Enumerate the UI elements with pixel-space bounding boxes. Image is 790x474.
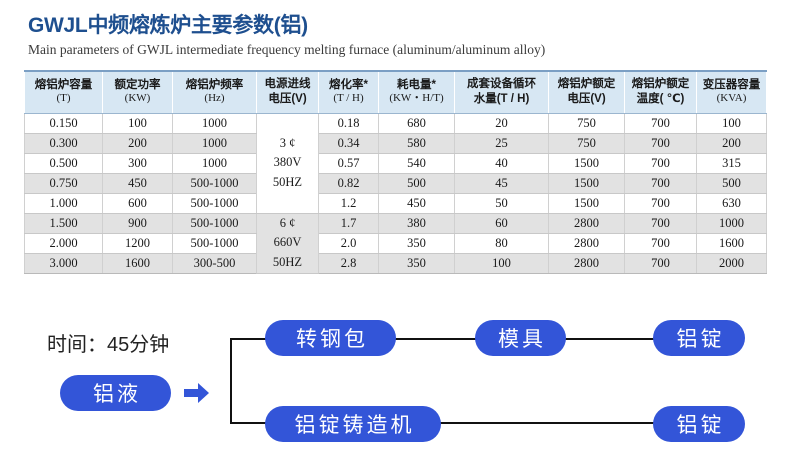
column-header-melt-rate-unit: (T / H) bbox=[320, 92, 377, 106]
supply-voltage-line: 6 ¢ bbox=[257, 214, 318, 233]
cell-melt-rate: 0.34 bbox=[319, 133, 379, 153]
cell-water: 60 bbox=[455, 213, 549, 233]
cell-power: 200 bbox=[103, 133, 173, 153]
connector-mould-to-ingot bbox=[562, 338, 658, 340]
cell-frequency: 1000 bbox=[173, 113, 257, 133]
cell-water: 100 bbox=[455, 253, 549, 273]
supply-voltage-line: 50HZ bbox=[257, 253, 318, 272]
cell-supply-voltage: 3 ¢380V50HZ bbox=[257, 113, 319, 213]
cell-temperature: 700 bbox=[625, 133, 697, 153]
column-header-capacity-label: 熔铝炉容量 bbox=[26, 78, 101, 92]
cell-capacity: 1.000 bbox=[25, 193, 103, 213]
cell-capacity: 0.750 bbox=[25, 173, 103, 193]
cell-temperature: 700 bbox=[625, 253, 697, 273]
table-row: 3.0001600300-5002.835010028007002000 bbox=[25, 253, 767, 273]
cell-transformer: 500 bbox=[697, 173, 767, 193]
column-header-supply-voltage-label: 电源进线 bbox=[258, 77, 317, 91]
supply-voltage-line: 50HZ bbox=[257, 173, 318, 192]
supply-voltage-line: 660V bbox=[257, 233, 318, 252]
cell-melt-rate: 1.7 bbox=[319, 213, 379, 233]
cell-power: 100 bbox=[103, 113, 173, 133]
column-header-melt-rate-label: 熔化率* bbox=[320, 78, 377, 92]
cell-frequency: 1000 bbox=[173, 153, 257, 173]
cell-furnace-voltage: 750 bbox=[549, 113, 625, 133]
cell-transformer: 315 bbox=[697, 153, 767, 173]
table-row: 0.15010010003 ¢380V50HZ0.186802075070010… bbox=[25, 113, 767, 133]
flow-node-molten-aluminum[interactable]: 铝液 bbox=[60, 375, 171, 411]
cell-power: 900 bbox=[103, 213, 173, 233]
supply-voltage-line: 3 ¢ bbox=[257, 134, 318, 153]
cell-transformer: 1600 bbox=[697, 233, 767, 253]
column-header-energy-label: 耗电量* bbox=[380, 78, 453, 92]
cell-capacity: 0.150 bbox=[25, 113, 103, 133]
cell-melt-rate: 2.0 bbox=[319, 233, 379, 253]
cell-furnace-voltage: 2800 bbox=[549, 233, 625, 253]
table-row: 0.50030010000.57540401500700315 bbox=[25, 153, 767, 173]
cell-capacity: 1.500 bbox=[25, 213, 103, 233]
cell-energy: 500 bbox=[379, 173, 455, 193]
column-header-water-unit: 水量(T / H) bbox=[456, 92, 547, 106]
column-header-supply-voltage-unit: 电压(V) bbox=[258, 92, 317, 106]
cell-capacity: 3.000 bbox=[25, 253, 103, 273]
column-header-energy: 耗电量* (KW・H/T) bbox=[379, 71, 455, 113]
table-body: 0.15010010003 ¢380V50HZ0.186802075070010… bbox=[25, 113, 767, 273]
cell-furnace-voltage: 1500 bbox=[549, 193, 625, 213]
column-header-supply-voltage: 电源进线 电压(V) bbox=[257, 71, 319, 113]
cell-transformer: 200 bbox=[697, 133, 767, 153]
cell-capacity: 0.500 bbox=[25, 153, 103, 173]
cell-transformer: 2000 bbox=[697, 253, 767, 273]
cell-temperature: 700 bbox=[625, 173, 697, 193]
column-header-temperature: 熔铝炉额定 温度( ℃) bbox=[625, 71, 697, 113]
column-header-transformer-label: 变压器容量 bbox=[698, 78, 765, 92]
cell-temperature: 700 bbox=[625, 113, 697, 133]
cell-power: 300 bbox=[103, 153, 173, 173]
column-header-frequency-label: 熔铝炉频率 bbox=[174, 78, 255, 92]
cell-transformer: 100 bbox=[697, 113, 767, 133]
column-header-water: 成套设备循环 水量(T / H) bbox=[455, 71, 549, 113]
table-row: 2.0001200500-10002.03508028007001600 bbox=[25, 233, 767, 253]
column-header-energy-unit: (KW・H/T) bbox=[380, 92, 453, 106]
column-header-frequency-unit: (Hz) bbox=[174, 92, 255, 106]
cell-water: 45 bbox=[455, 173, 549, 193]
cell-power: 600 bbox=[103, 193, 173, 213]
time-label: 时间：45分钟 bbox=[47, 328, 169, 357]
cell-energy: 380 bbox=[379, 213, 455, 233]
column-header-furnace-voltage-unit: 电压(V) bbox=[550, 92, 623, 106]
column-header-furnace-voltage: 熔铝炉额定 电压(V) bbox=[549, 71, 625, 113]
table-row: 1.000600500-10001.2450501500700630 bbox=[25, 193, 767, 213]
cell-energy: 350 bbox=[379, 233, 455, 253]
cell-temperature: 700 bbox=[625, 233, 697, 253]
column-header-frequency: 熔铝炉频率 (Hz) bbox=[173, 71, 257, 113]
cell-melt-rate: 0.82 bbox=[319, 173, 379, 193]
cell-furnace-voltage: 2800 bbox=[549, 253, 625, 273]
flow-node-ingot-bottom[interactable]: 铝锭 bbox=[653, 406, 745, 442]
flow-node-ingot-top[interactable]: 铝锭 bbox=[653, 320, 745, 356]
cell-supply-voltage: 6 ¢660V50HZ bbox=[257, 213, 319, 273]
page-title: GWJL中频熔炼炉主要参数(铝) bbox=[28, 14, 768, 37]
cell-energy: 450 bbox=[379, 193, 455, 213]
connector-caster-to-ingot bbox=[436, 422, 658, 424]
column-header-transformer-unit: (KVA) bbox=[698, 92, 765, 106]
column-header-transformer: 变压器容量 (KVA) bbox=[697, 71, 767, 113]
cell-power: 1600 bbox=[103, 253, 173, 273]
column-header-power-label: 额定功率 bbox=[104, 78, 171, 92]
process-flow-diagram: 时间：45分钟 铝液 转钢包 模具 铝锭 铝锭铸造机 铝锭 bbox=[0, 296, 790, 474]
column-header-temperature-label: 熔铝炉额定 bbox=[626, 77, 695, 91]
cell-temperature: 700 bbox=[625, 213, 697, 233]
connector-branch-spine bbox=[230, 338, 232, 424]
connector-ladle-to-mould bbox=[392, 338, 480, 340]
cell-melt-rate: 2.8 bbox=[319, 253, 379, 273]
cell-frequency: 500-1000 bbox=[173, 233, 257, 253]
supply-voltage-line: 380V bbox=[257, 153, 318, 172]
flow-node-ladle[interactable]: 转钢包 bbox=[265, 320, 396, 356]
column-header-furnace-voltage-label: 熔铝炉额定 bbox=[550, 77, 623, 91]
cell-transformer: 630 bbox=[697, 193, 767, 213]
column-header-melt-rate: 熔化率* (T / H) bbox=[319, 71, 379, 113]
table-row: 0.750450500-10000.82500451500700500 bbox=[25, 173, 767, 193]
cell-melt-rate: 0.18 bbox=[319, 113, 379, 133]
cell-temperature: 700 bbox=[625, 193, 697, 213]
column-header-power-unit: (KW) bbox=[104, 92, 171, 106]
cell-energy: 580 bbox=[379, 133, 455, 153]
cell-water: 20 bbox=[455, 113, 549, 133]
cell-water: 40 bbox=[455, 153, 549, 173]
right-arrow-icon bbox=[184, 382, 210, 404]
cell-melt-rate: 0.57 bbox=[319, 153, 379, 173]
cell-power: 450 bbox=[103, 173, 173, 193]
specification-table: 熔铝炉容量 (T) 额定功率 (KW) 熔铝炉频率 (Hz) 电源进线 电压(V… bbox=[24, 70, 767, 274]
cell-energy: 350 bbox=[379, 253, 455, 273]
page-header: GWJL中频熔炼炉主要参数(铝) Main parameters of GWJL… bbox=[28, 14, 768, 58]
cell-frequency: 300-500 bbox=[173, 253, 257, 273]
column-header-power: 额定功率 (KW) bbox=[103, 71, 173, 113]
cell-frequency: 500-1000 bbox=[173, 173, 257, 193]
flow-node-ingot-caster[interactable]: 铝锭铸造机 bbox=[265, 406, 441, 442]
cell-furnace-voltage: 2800 bbox=[549, 213, 625, 233]
cell-energy: 540 bbox=[379, 153, 455, 173]
cell-frequency: 500-1000 bbox=[173, 193, 257, 213]
cell-water: 50 bbox=[455, 193, 549, 213]
column-header-water-label: 成套设备循环 bbox=[456, 77, 547, 91]
cell-capacity: 2.000 bbox=[25, 233, 103, 253]
column-header-temperature-unit: 温度( ℃) bbox=[626, 92, 695, 106]
cell-melt-rate: 1.2 bbox=[319, 193, 379, 213]
column-header-capacity: 熔铝炉容量 (T) bbox=[25, 71, 103, 113]
cell-temperature: 700 bbox=[625, 153, 697, 173]
cell-energy: 680 bbox=[379, 113, 455, 133]
table-header-row: 熔铝炉容量 (T) 额定功率 (KW) 熔铝炉频率 (Hz) 电源进线 电压(V… bbox=[25, 71, 767, 113]
cell-water: 80 bbox=[455, 233, 549, 253]
cell-power: 1200 bbox=[103, 233, 173, 253]
page-subtitle: Main parameters of GWJL intermediate fre… bbox=[28, 43, 768, 58]
cell-capacity: 0.300 bbox=[25, 133, 103, 153]
column-header-capacity-unit: (T) bbox=[26, 92, 101, 106]
cell-frequency: 500-1000 bbox=[173, 213, 257, 233]
cell-frequency: 1000 bbox=[173, 133, 257, 153]
cell-furnace-voltage: 1500 bbox=[549, 153, 625, 173]
spec-table-container: 熔铝炉容量 (T) 额定功率 (KW) 熔铝炉频率 (Hz) 电源进线 电压(V… bbox=[24, 70, 766, 274]
table-row: 1.500900500-10006 ¢660V50HZ1.73806028007… bbox=[25, 213, 767, 233]
cell-furnace-voltage: 1500 bbox=[549, 173, 625, 193]
table-row: 0.30020010000.3458025750700200 bbox=[25, 133, 767, 153]
flow-node-mould[interactable]: 模具 bbox=[475, 320, 566, 356]
cell-transformer: 1000 bbox=[697, 213, 767, 233]
cell-furnace-voltage: 750 bbox=[549, 133, 625, 153]
cell-water: 25 bbox=[455, 133, 549, 153]
